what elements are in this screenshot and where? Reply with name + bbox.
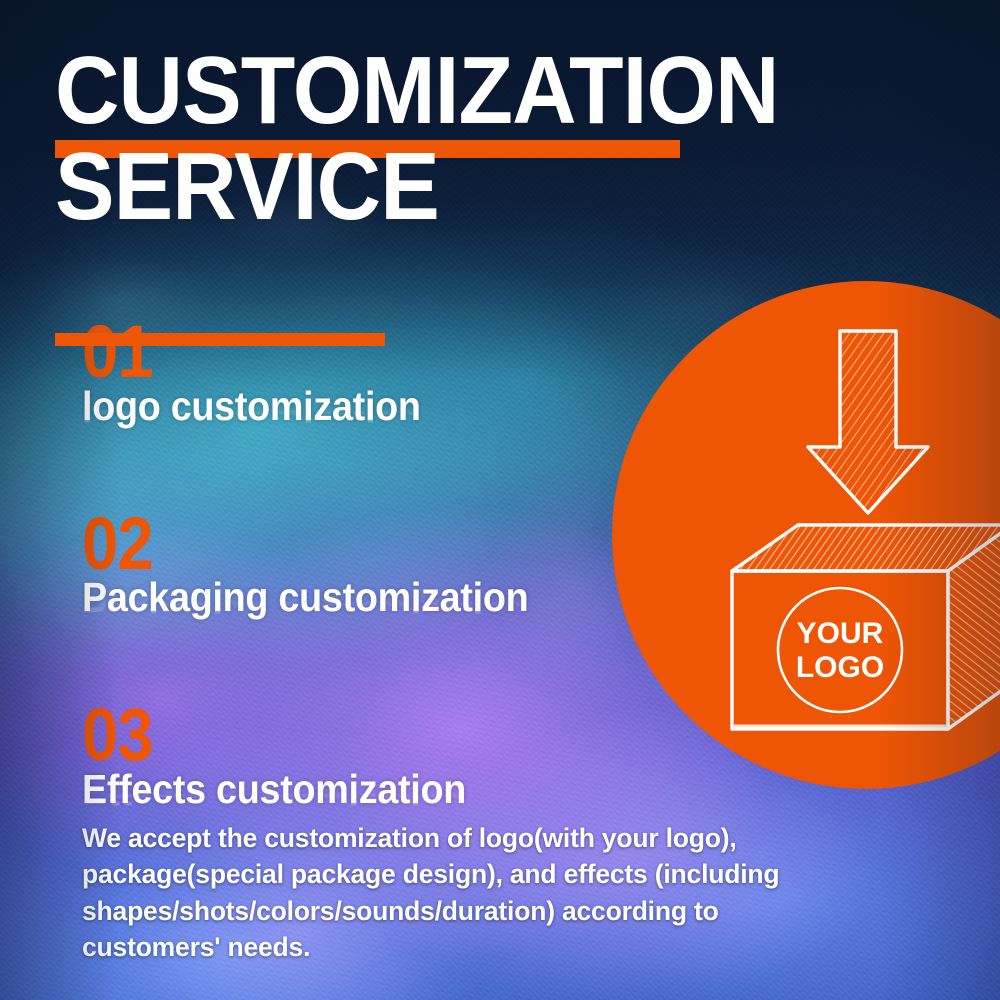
your-logo-circle: YOUR LOGO <box>778 588 902 712</box>
service-item-02-label: Packaging customization <box>82 576 597 619</box>
headline-block: CUSTOMIZATION SERVICE <box>55 46 775 232</box>
service-items-list: 01 logo customization logo customization… <box>82 322 642 861</box>
service-item-01-label: logo customization <box>82 385 597 428</box>
service-item-02: 02 Packaging customization Packaging cus… <box>82 514 642 660</box>
service-item-03-number: 03 <box>82 705 575 766</box>
your-logo-line-1: YOUR <box>797 617 884 650</box>
headline-line-1-row: CUSTOMIZATION <box>55 46 775 136</box>
service-item-02-number: 02 <box>82 514 575 575</box>
promotional-poster: CUSTOMIZATION SERVICE 01 logo customizat… <box>0 0 1000 1000</box>
headline-line-1: CUSTOMIZATION <box>55 46 725 136</box>
headline-underline-bar-2 <box>55 333 385 346</box>
headline-line-2: SERVICE <box>55 142 725 232</box>
description-paragraph: We accept the customization of logo(with… <box>82 820 852 965</box>
down-arrow-icon <box>808 331 928 513</box>
your-logo-line-2: LOGO <box>796 651 884 684</box>
headline-line-2-row: SERVICE <box>55 142 775 232</box>
customization-badge: YOUR LOGO <box>612 281 1000 789</box>
package-box-illustration: YOUR LOGO <box>612 281 1000 789</box>
service-item-01-number: 01 <box>82 322 575 383</box>
service-item-03-label: Effects customization <box>82 768 597 811</box>
